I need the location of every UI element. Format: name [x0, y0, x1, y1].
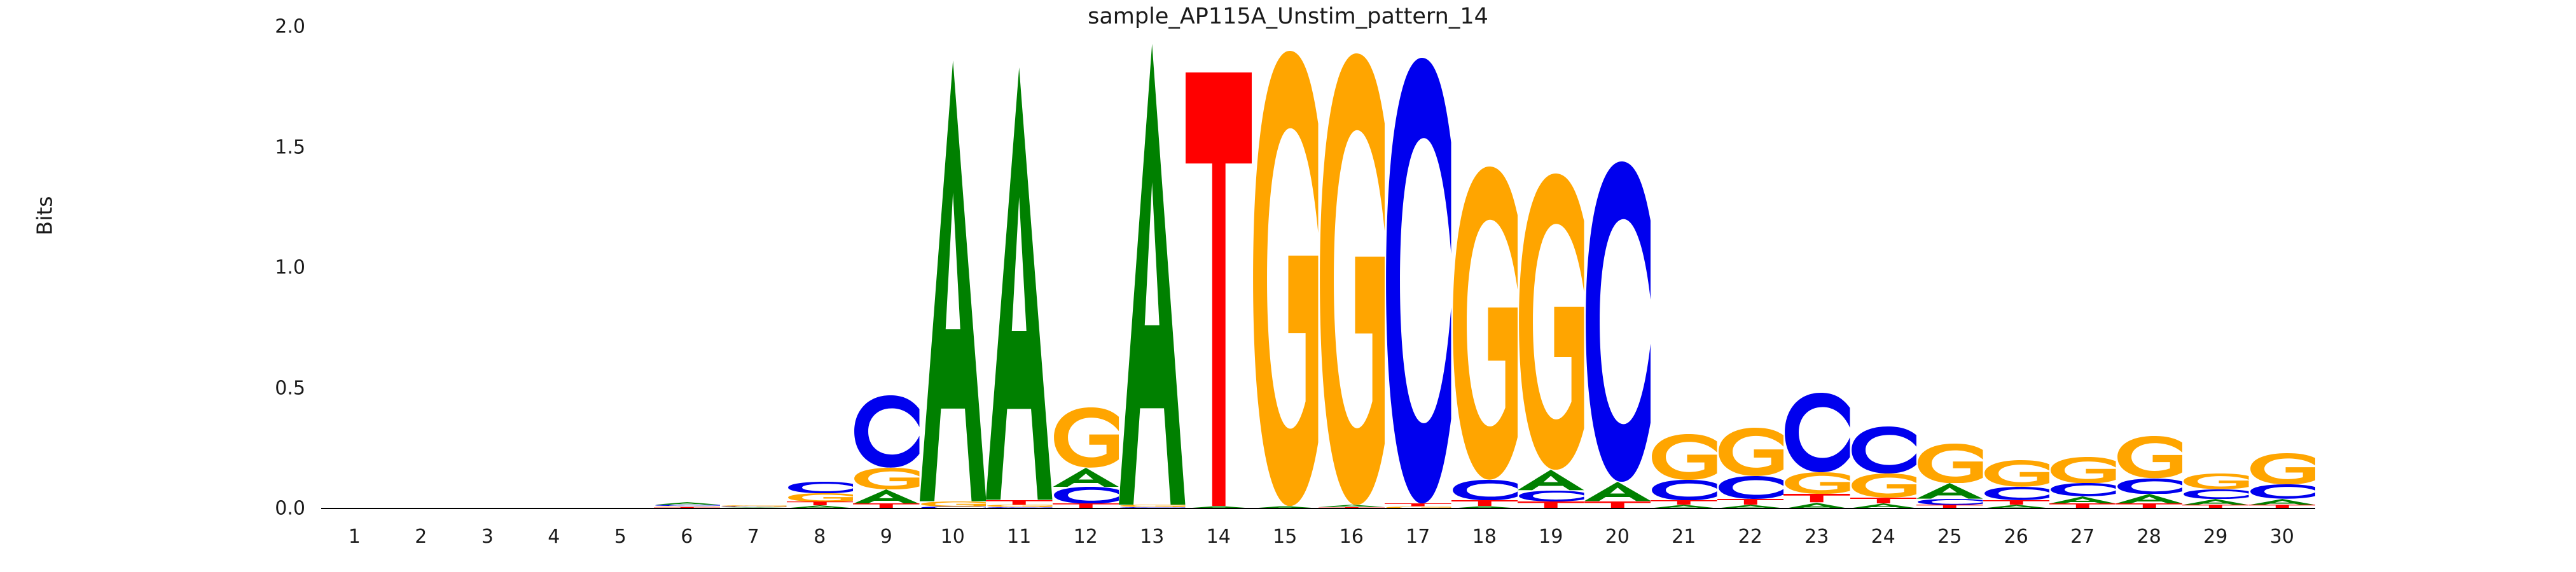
y-tick-label: 0.5: [210, 377, 305, 399]
logo-stack-position-5: [587, 27, 654, 508]
logo-letter-G: [986, 505, 1053, 507]
logo-letter-T: [986, 500, 1053, 505]
x-tick-label: 4: [529, 526, 579, 548]
x-tick-label: 11: [994, 526, 1044, 548]
logo-plot-area: [321, 27, 2315, 508]
logo-stack-position-2: [388, 27, 455, 508]
x-tick-label: 16: [1326, 526, 1377, 548]
logo-letter-A: [920, 60, 987, 501]
logo-letter-G: [1783, 472, 1850, 494]
logo-stack-position-9: [853, 27, 920, 508]
logo-letter-T: [1783, 494, 1850, 502]
logo-letter-G: [1252, 51, 1319, 506]
logo-letter-A: [1119, 44, 1186, 505]
logo-letter-C: [1053, 487, 1119, 504]
logo-letter-C: [2049, 483, 2116, 496]
logo-letter-C: [1850, 426, 1917, 473]
logo-letter-A: [853, 489, 920, 504]
logo-letter-T: [1186, 72, 1252, 506]
x-tick-label: 5: [595, 526, 646, 548]
page-title: sample_AP115A_Unstim_pattern_14: [0, 4, 2576, 29]
logo-letter-G: [720, 505, 787, 507]
x-tick-label: 13: [1126, 526, 1177, 548]
sequence-logo-figure: sample_AP115A_Unstim_pattern_14 Bits 0.0…: [0, 0, 2576, 572]
x-tick-label: 7: [728, 526, 779, 548]
logo-stack-position-27: [2049, 27, 2116, 508]
logo-stack-position-16: [1319, 27, 1385, 508]
logo-stack-position-29: [2182, 27, 2249, 508]
logo-stack-position-28: [2116, 27, 2183, 508]
logo-letter-T: [1850, 498, 1917, 503]
logo-letter-A: [1053, 468, 1119, 487]
logo-letter-G: [2249, 453, 2316, 484]
y-axis-ticks: 0.00.51.01.52.0: [210, 0, 305, 572]
x-tick-label: 23: [1791, 526, 1842, 548]
y-axis-label: Bits: [32, 153, 57, 280]
logo-letter-G: [1717, 428, 1784, 476]
logo-letter-C: [2249, 484, 2316, 499]
logo-letter-C: [2182, 489, 2249, 499]
x-tick-label: 8: [794, 526, 845, 548]
x-tick-label: 26: [1991, 526, 2042, 548]
logo-stack-position-11: [986, 27, 1053, 508]
x-tick-label: 29: [2190, 526, 2241, 548]
logo-letter-C: [1717, 476, 1784, 499]
logo-letter-C: [1518, 491, 1584, 501]
logo-stack-position-12: [1053, 27, 1119, 508]
y-tick-label: 2.0: [210, 16, 305, 38]
logo-letter-C: [1783, 393, 1850, 472]
x-tick-label: 25: [1924, 526, 1975, 548]
logo-letter-G: [787, 493, 854, 502]
logo-stack-position-19: [1518, 27, 1584, 508]
logo-letter-G: [920, 501, 987, 507]
logo-stack-position-14: [1186, 27, 1252, 508]
x-tick-label: 21: [1658, 526, 1709, 548]
logo-letter-A: [1319, 505, 1385, 507]
x-tick-label: 19: [1525, 526, 1576, 548]
x-tick-label: 9: [861, 526, 911, 548]
x-tick-label: 18: [1459, 526, 1510, 548]
x-tick-label: 22: [1725, 526, 1776, 548]
logo-letter-T: [1983, 500, 2050, 505]
logo-letter-C: [1651, 480, 1717, 500]
y-tick-label: 0.0: [210, 498, 305, 520]
logo-stack-position-22: [1717, 27, 1784, 508]
logo-letter-T: [1451, 500, 1518, 506]
x-tick-label: 17: [1392, 526, 1443, 548]
logo-letter-A: [986, 67, 1053, 500]
logo-letter-A: [2049, 496, 2116, 503]
logo-letter-A: [2116, 494, 2183, 503]
logo-stack-position-1: [321, 27, 388, 508]
logo-letter-G: [1053, 407, 1119, 468]
logo-letter-C: [1916, 499, 1983, 505]
x-tick-label: 2: [396, 526, 447, 548]
logo-letter-G: [2116, 436, 2183, 478]
logo-letter-A: [654, 502, 721, 505]
logo-letter-G: [1451, 167, 1518, 480]
logo-letter-G: [1518, 174, 1584, 470]
logo-letter-T: [1717, 499, 1784, 505]
logo-stack-position-17: [1385, 27, 1451, 508]
logo-stack-position-13: [1119, 27, 1186, 508]
logo-stack-position-25: [1916, 27, 1983, 508]
logo-letter-A: [1916, 483, 1983, 499]
x-tick-label: 24: [1858, 526, 1909, 548]
logo-stack-position-10: [920, 27, 987, 508]
logo-stack-position-4: [521, 27, 588, 508]
x-tick-label: 10: [927, 526, 978, 548]
x-tick-label: 30: [2257, 526, 2308, 548]
logo-stack-position-8: [787, 27, 854, 508]
logo-letter-C: [1451, 480, 1518, 500]
logo-letter-G: [2049, 457, 2116, 484]
logo-letter-T: [787, 501, 854, 505]
logo-letter-T: [1651, 500, 1717, 505]
logo-letter-A: [2182, 499, 2249, 505]
logo-stack-position-30: [2249, 27, 2316, 508]
logo-stack-position-7: [720, 27, 787, 508]
logo-letter-C: [1584, 161, 1651, 482]
logo-letter-A: [1584, 482, 1651, 501]
logo-stack-position-3: [454, 27, 521, 508]
logo-letter-G: [1983, 460, 2050, 487]
logo-stack-position-18: [1451, 27, 1518, 508]
y-tick-label: 1.0: [210, 257, 305, 279]
x-tick-label: 12: [1060, 526, 1111, 548]
logo-letter-A: [2249, 499, 2316, 505]
logo-letter-C: [787, 482, 854, 493]
logo-stack-position-15: [1252, 27, 1319, 508]
logo-letter-C: [1385, 58, 1451, 503]
logo-stack-position-23: [1783, 27, 1850, 508]
logo-letter-C: [1983, 487, 2050, 500]
logo-letter-C: [2116, 479, 2183, 494]
x-tick-label: 20: [1592, 526, 1643, 548]
x-tick-label: 6: [661, 526, 712, 548]
logo-letter-C: [853, 395, 920, 468]
logo-stack-position-24: [1850, 27, 1917, 508]
x-tick-label: 3: [462, 526, 513, 548]
logo-letter-A: [1518, 470, 1584, 490]
logo-letter-G: [1916, 444, 1983, 484]
x-axis-spine: [321, 508, 2315, 509]
logo-letter-T: [1385, 503, 1451, 507]
logo-letter-G: [1319, 53, 1385, 505]
x-tick-label: 27: [2057, 526, 2108, 548]
x-tick-label: 15: [1259, 526, 1310, 548]
logo-letter-G: [1850, 473, 1917, 498]
x-tick-label: 28: [2124, 526, 2175, 548]
logo-stack-position-6: [654, 27, 721, 508]
x-tick-label: 14: [1193, 526, 1244, 548]
logo-letter-G: [2182, 473, 2249, 489]
logo-letter-G: [853, 468, 920, 489]
logo-letter-G: [1651, 434, 1717, 480]
logo-stack-position-20: [1584, 27, 1651, 508]
logo-letter-C: [654, 505, 721, 506]
y-tick-label: 1.5: [210, 136, 305, 158]
logo-stack-position-26: [1983, 27, 2050, 508]
logo-stack-position-21: [1651, 27, 1717, 508]
x-tick-label: 1: [329, 526, 380, 548]
logo-letter-G: [1119, 505, 1186, 507]
